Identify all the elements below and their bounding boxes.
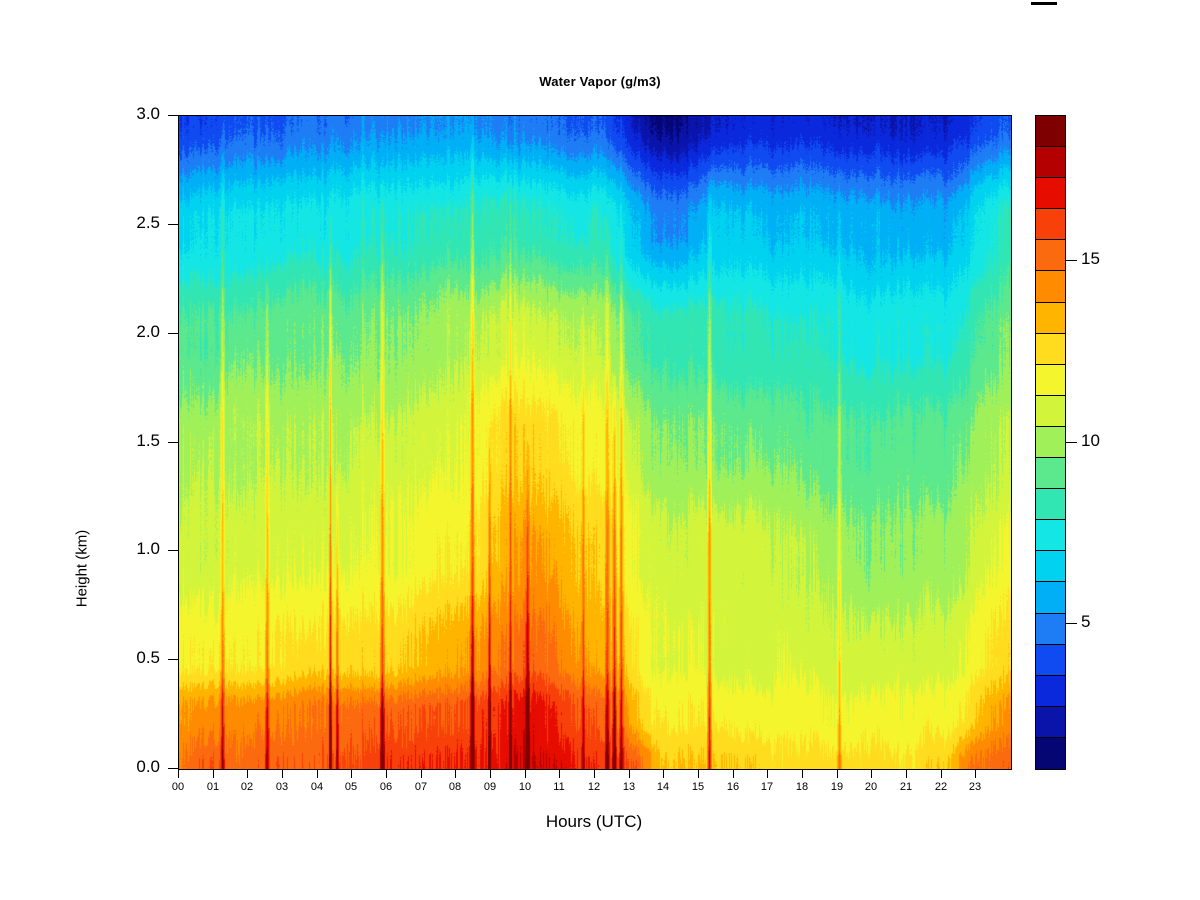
x-tick-mark	[733, 769, 734, 778]
x-tick-label: 17	[752, 781, 782, 793]
x-tick-mark	[594, 769, 595, 778]
x-tick-mark	[178, 769, 179, 778]
x-tick-mark	[351, 769, 352, 778]
colorbar-band	[1036, 707, 1065, 738]
x-tick-mark	[802, 769, 803, 778]
x-tick-mark	[837, 769, 838, 778]
x-tick-label: 23	[960, 781, 990, 793]
x-tick-label: 16	[718, 781, 748, 793]
colorbar-band	[1036, 582, 1065, 613]
colorbar-band	[1036, 334, 1065, 365]
x-tick-label: 05	[336, 781, 366, 793]
colorbar-band	[1036, 271, 1065, 302]
colorbar-tick-label: 10	[1081, 431, 1100, 451]
y-tick-label: 1.0	[100, 539, 160, 559]
x-tick-mark	[629, 769, 630, 778]
x-tick-mark	[906, 769, 907, 778]
y-tick-mark	[168, 768, 178, 769]
y-axis-label: Height (km)	[74, 469, 91, 669]
x-tick-label: 07	[406, 781, 436, 793]
x-tick-label: 02	[232, 781, 262, 793]
colorbar-tick-mark	[1066, 442, 1077, 443]
colorbar-band	[1036, 551, 1065, 582]
x-tick-mark	[317, 769, 318, 778]
x-tick-label: 09	[475, 781, 505, 793]
colorbar-band	[1036, 147, 1065, 178]
y-tick-label: 2.0	[100, 322, 160, 342]
y-tick-mark	[168, 115, 178, 116]
x-tick-label: 04	[302, 781, 332, 793]
x-tick-mark	[941, 769, 942, 778]
x-tick-label: 00	[163, 781, 193, 793]
x-tick-mark	[247, 769, 248, 778]
corner-mark-artifact	[1031, 2, 1057, 5]
colorbar-band	[1036, 116, 1065, 147]
y-tick-label: 0.5	[100, 648, 160, 668]
colorbar-band	[1036, 303, 1065, 334]
y-tick-mark	[168, 224, 178, 225]
heatmap-plot-area	[178, 115, 1012, 770]
colorbar	[1035, 115, 1066, 770]
figure-root: Water Vapor (g/m3) 0.00.51.01.52.02.53.0…	[0, 0, 1200, 900]
x-tick-mark	[767, 769, 768, 778]
colorbar-band	[1036, 645, 1065, 676]
x-tick-mark	[213, 769, 214, 778]
x-tick-mark	[386, 769, 387, 778]
x-tick-mark	[975, 769, 976, 778]
x-tick-mark	[525, 769, 526, 778]
x-tick-label: 22	[926, 781, 956, 793]
x-tick-mark	[455, 769, 456, 778]
colorbar-band	[1036, 427, 1065, 458]
colorbar-tick-label: 5	[1081, 612, 1090, 632]
y-tick-label: 0.0	[100, 757, 160, 777]
x-tick-label: 18	[787, 781, 817, 793]
colorbar-band	[1036, 209, 1065, 240]
x-tick-label: 20	[856, 781, 886, 793]
y-tick-label: 2.5	[100, 213, 160, 233]
x-tick-label: 06	[371, 781, 401, 793]
x-tick-label: 21	[891, 781, 921, 793]
colorbar-tick-mark	[1066, 623, 1077, 624]
x-tick-mark	[282, 769, 283, 778]
colorbar-tick-label: 15	[1081, 249, 1100, 269]
x-tick-label: 15	[683, 781, 713, 793]
y-tick-label: 3.0	[100, 104, 160, 124]
colorbar-band	[1036, 614, 1065, 645]
colorbar-band	[1036, 520, 1065, 551]
colorbar-band	[1036, 178, 1065, 209]
x-tick-label: 14	[648, 781, 678, 793]
x-tick-mark	[698, 769, 699, 778]
colorbar-band	[1036, 240, 1065, 271]
x-tick-mark	[490, 769, 491, 778]
x-tick-label: 19	[822, 781, 852, 793]
x-tick-mark	[871, 769, 872, 778]
x-tick-mark	[559, 769, 560, 778]
colorbar-band	[1036, 738, 1065, 769]
colorbar-band	[1036, 365, 1065, 396]
x-tick-label: 13	[614, 781, 644, 793]
x-tick-mark	[421, 769, 422, 778]
x-axis-label: Hours (UTC)	[178, 812, 1010, 832]
y-tick-mark	[168, 550, 178, 551]
x-tick-label: 11	[544, 781, 574, 793]
x-tick-mark	[663, 769, 664, 778]
y-tick-mark	[168, 442, 178, 443]
x-tick-label: 01	[198, 781, 228, 793]
water-vapor-field	[179, 116, 1011, 769]
y-tick-mark	[168, 659, 178, 660]
y-tick-label: 1.5	[100, 431, 160, 451]
x-tick-label: 08	[440, 781, 470, 793]
colorbar-band	[1036, 489, 1065, 520]
y-tick-mark	[168, 333, 178, 334]
colorbar-band	[1036, 396, 1065, 427]
plot-title: Water Vapor (g/m3)	[0, 74, 1200, 89]
colorbar-band	[1036, 676, 1065, 707]
x-tick-label: 03	[267, 781, 297, 793]
x-tick-label: 12	[579, 781, 609, 793]
x-tick-label: 10	[510, 781, 540, 793]
colorbar-band	[1036, 458, 1065, 489]
colorbar-tick-mark	[1066, 260, 1077, 261]
